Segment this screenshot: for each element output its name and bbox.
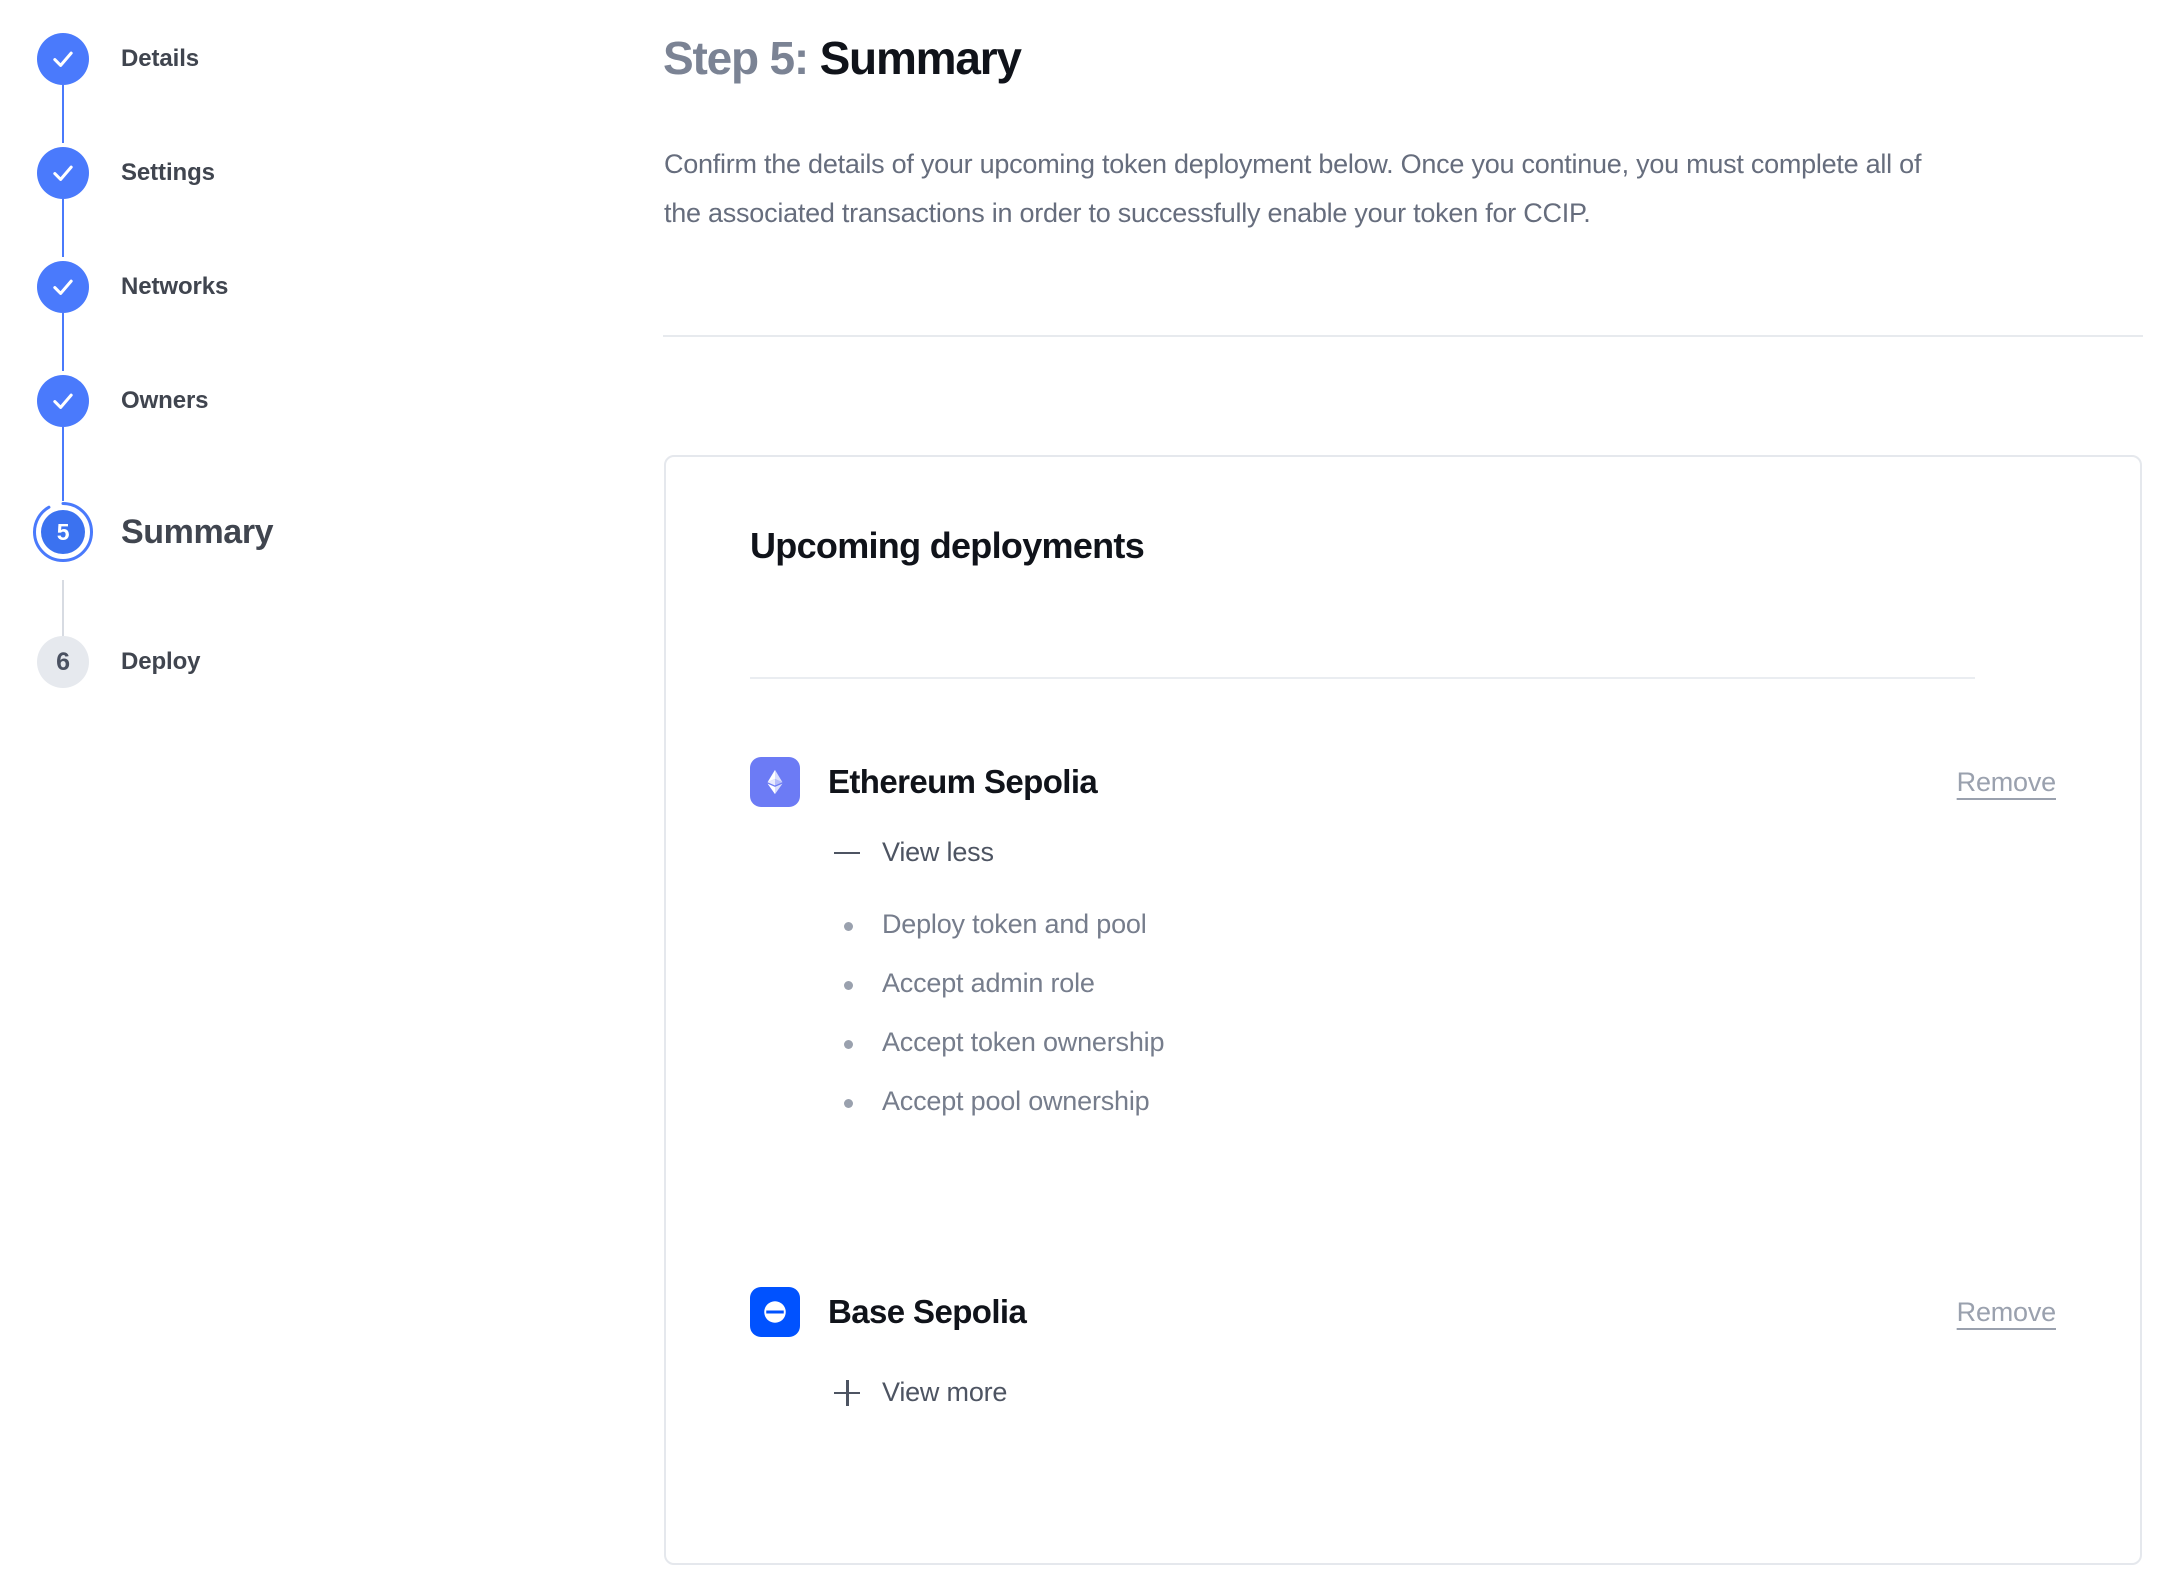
token-deployment-wizard: Details Settings Netwo xyxy=(0,0,2160,1580)
step-status-complete xyxy=(37,147,89,199)
wizard-stepper: Details Settings Netwo xyxy=(0,0,640,1580)
toggle-network-details[interactable]: View less xyxy=(834,837,994,868)
list-item: Accept token ownership xyxy=(834,1013,1164,1072)
step-status-complete xyxy=(37,33,89,85)
page-title-name: Summary xyxy=(820,32,1021,84)
step-number: 6 xyxy=(56,650,70,675)
step-marker-owners xyxy=(37,375,89,427)
card-title: Upcoming deployments xyxy=(750,525,1144,567)
stepper-connector-4 xyxy=(62,427,64,501)
step-marker-networks xyxy=(37,261,89,313)
step-status-complete xyxy=(37,261,89,313)
check-icon xyxy=(49,159,77,187)
sidebar-item-networks[interactable]: Networks xyxy=(37,252,228,322)
list-item: Accept admin role xyxy=(834,954,1164,1013)
base-glyph xyxy=(760,1297,790,1327)
upcoming-deployments-card: Upcoming deployments xyxy=(664,455,2142,1565)
toggle-network-details[interactable]: View more xyxy=(834,1377,1007,1408)
sidebar-item-settings[interactable]: Settings xyxy=(37,138,215,208)
sidebar-item-details[interactable]: Details xyxy=(37,24,199,94)
network-name: Ethereum Sepolia xyxy=(828,763,1097,801)
ethereum-glyph xyxy=(761,768,789,796)
step-status-pending: 6 xyxy=(37,636,89,688)
remove-network-link[interactable]: Remove xyxy=(1957,767,2056,798)
step-marker-deploy: 6 xyxy=(37,636,89,688)
remove-network-link[interactable]: Remove xyxy=(1957,1297,2056,1328)
step-marker-settings xyxy=(37,147,89,199)
list-item: Deploy token and pool xyxy=(834,895,1164,954)
plus-icon xyxy=(834,1380,860,1406)
page-title-step: Step 5: xyxy=(663,32,808,84)
toggle-label: View less xyxy=(882,837,994,868)
toggle-label: View more xyxy=(882,1377,1007,1408)
sidebar-item-deploy[interactable]: 6 Deploy xyxy=(37,627,200,697)
card-divider xyxy=(750,677,1975,679)
list-item: Accept pool ownership xyxy=(834,1072,1164,1131)
page-title: Step 5: Summary xyxy=(663,32,1021,85)
sidebar-item-label: Networks xyxy=(121,273,228,301)
page-description: Confirm the details of your upcoming tok… xyxy=(664,140,1954,238)
step-status-active: 5 xyxy=(41,510,85,554)
sidebar-item-label: Summary xyxy=(121,513,273,552)
sidebar-item-owners[interactable]: Owners xyxy=(37,366,208,436)
ethereum-icon xyxy=(750,757,800,807)
check-icon xyxy=(49,45,77,73)
network-header: Ethereum Sepolia Remove xyxy=(750,757,2056,807)
step-marker-details xyxy=(37,33,89,85)
sidebar-item-label: Settings xyxy=(121,159,215,187)
network-task-list: Deploy token and pool Accept admin role … xyxy=(834,895,1164,1131)
check-icon xyxy=(49,387,77,415)
check-icon xyxy=(49,273,77,301)
sidebar-item-label: Owners xyxy=(121,387,208,415)
network-header: Base Sepolia Remove xyxy=(750,1287,2056,1337)
sidebar-item-summary[interactable]: 5 Summary xyxy=(37,497,273,567)
network-name: Base Sepolia xyxy=(828,1293,1026,1331)
section-divider xyxy=(663,335,2143,337)
sidebar-item-label: Details xyxy=(121,45,199,73)
sidebar-item-label: Deploy xyxy=(121,648,200,676)
step-marker-summary: 5 xyxy=(37,506,89,558)
step-number: 5 xyxy=(57,521,70,544)
minus-icon xyxy=(834,840,860,866)
step-status-complete xyxy=(37,375,89,427)
base-icon xyxy=(750,1287,800,1337)
